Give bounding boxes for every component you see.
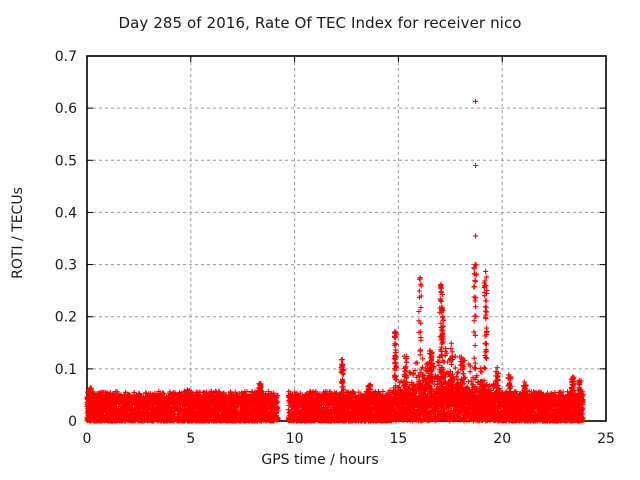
svg-text:0.7: 0.7: [55, 49, 77, 65]
svg-text:0.4: 0.4: [55, 205, 77, 221]
chart-canvas: Day 285 of 2016, Rate Of TEC Index for r…: [0, 0, 640, 480]
plot-frame: [87, 56, 606, 421]
plot-svg: 00.10.20.30.40.50.60.70510152025: [0, 0, 640, 480]
svg-text:5: 5: [186, 431, 195, 447]
svg-text:15: 15: [389, 431, 407, 447]
svg-text:20: 20: [493, 431, 511, 447]
data-points: [84, 99, 585, 424]
svg-text:0.1: 0.1: [55, 362, 77, 378]
svg-text:25: 25: [597, 431, 615, 447]
svg-text:10: 10: [286, 431, 304, 447]
svg-text:0.3: 0.3: [55, 258, 77, 274]
svg-text:0.2: 0.2: [55, 310, 77, 326]
svg-text:0.6: 0.6: [55, 101, 77, 117]
gridlines: [87, 56, 606, 421]
svg-text:0: 0: [83, 431, 92, 447]
svg-text:0: 0: [68, 414, 77, 430]
axis-ticks: [87, 56, 606, 421]
svg-text:0.5: 0.5: [55, 153, 77, 169]
tick-labels: 00.10.20.30.40.50.60.70510152025: [55, 49, 615, 447]
